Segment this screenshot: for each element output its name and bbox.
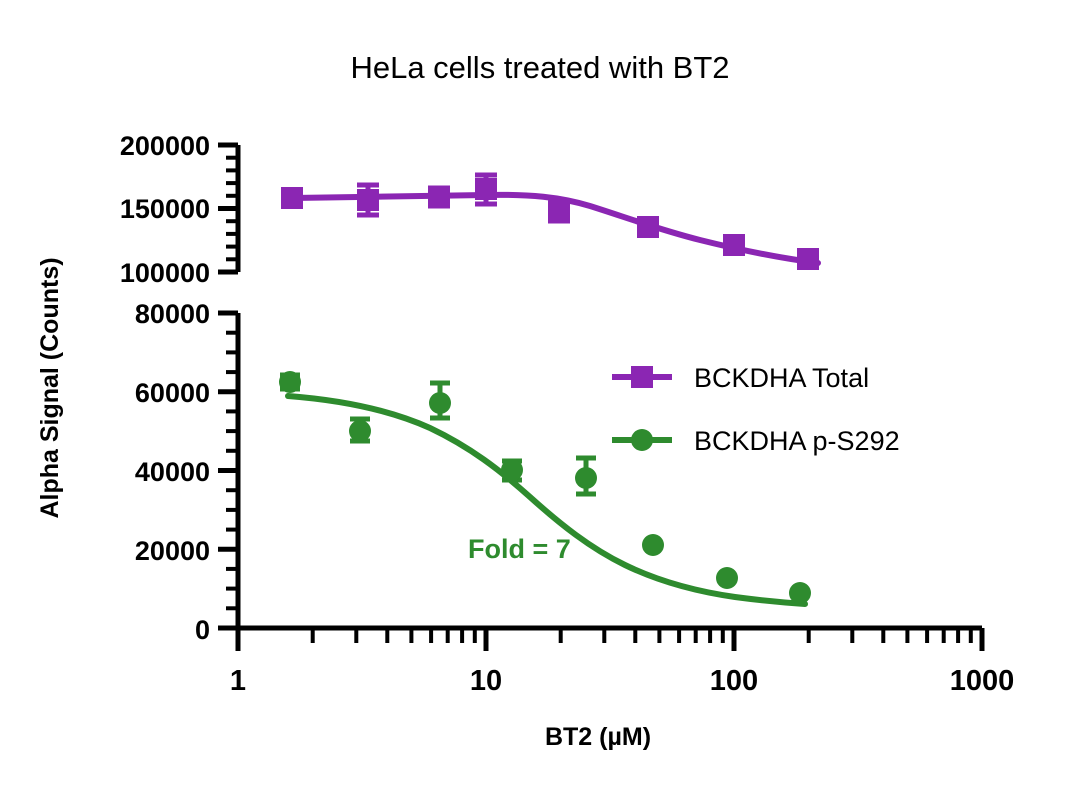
data-point-ps292 (789, 582, 811, 604)
chart-title: HeLa cells treated with BT2 (350, 50, 729, 85)
ytick-label-60000: 60000 (135, 378, 210, 408)
data-point-ps292 (642, 534, 664, 556)
ytick-label-40000: 40000 (135, 457, 210, 487)
data-point-total (723, 234, 745, 256)
ytick-label-150000: 150000 (120, 194, 210, 224)
ytick-label-100000: 100000 (120, 258, 210, 288)
xtick-label-10: 10 (470, 665, 502, 697)
dose-response-plot: HeLa cells treated with BT2 200000 15000… (0, 0, 1080, 795)
data-point-ps292 (349, 420, 371, 442)
data-point-total (548, 201, 570, 223)
data-point-total (428, 186, 450, 208)
ytick-label-20000: 20000 (135, 536, 210, 566)
ytick-label-0: 0 (195, 615, 210, 645)
y-axis-title: Alpha Signal (Counts) (36, 257, 64, 518)
data-point-ps292 (501, 459, 523, 481)
data-point-ps292 (716, 567, 738, 589)
legend-marker-circle-icon (631, 429, 653, 451)
data-point-total (357, 189, 379, 211)
xtick-label-100: 100 (710, 665, 758, 697)
data-point-total (797, 248, 819, 270)
fold-annotation: Fold = 7 (468, 534, 571, 564)
legend-label-ps292: BCKDHA p-S292 (694, 426, 900, 456)
data-point-total (475, 178, 497, 200)
data-point-total (637, 216, 659, 238)
ytick-label-80000: 80000 (135, 299, 210, 329)
xtick-label-1: 1 (230, 665, 246, 697)
legend-label-total: BCKDHA Total (694, 363, 869, 393)
data-point-ps292 (429, 392, 451, 414)
data-point-ps292 (279, 371, 301, 393)
legend-marker-square-icon (631, 366, 653, 388)
x-axis-title: BT2 (µM) (545, 723, 651, 751)
xtick-label-1000: 1000 (950, 665, 1015, 697)
ytick-label-200000: 200000 (120, 131, 210, 161)
data-point-ps292 (575, 467, 597, 489)
chart-figure: HeLa cells treated with BT2 200000 15000… (0, 0, 1080, 795)
data-point-total (281, 187, 303, 209)
